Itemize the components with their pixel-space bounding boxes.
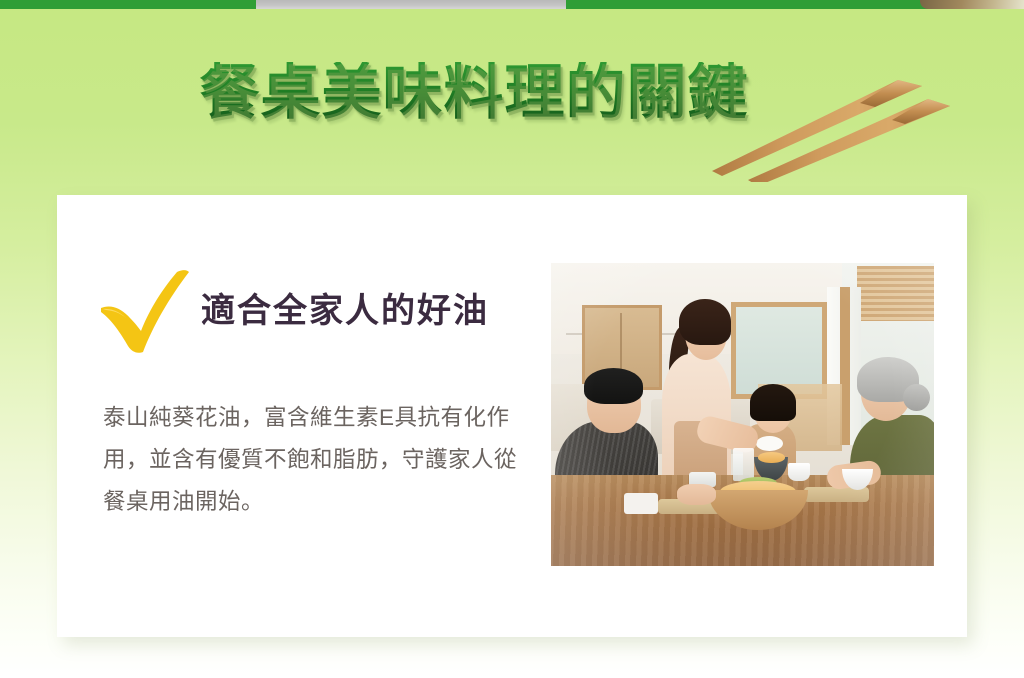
top-strip-gray [256, 0, 566, 9]
body-line: 用，並含有優質不飽和脂肪，守護家人從 [103, 439, 555, 481]
card-left-column: 適合全家人的好油 泰山純葵花油，富含維生素E具抗有化作 用，並含有優質不飽和脂肪… [97, 265, 567, 523]
card-body-text: 泰山純葵花油，富含維生素E具抗有化作 用，並含有優質不飽和脂肪，守護家人從 餐桌… [103, 397, 555, 523]
content-card: 適合全家人的好油 泰山純葵花油，富含維生素E具抗有化作 用，並含有優質不飽和脂肪… [57, 195, 967, 637]
top-strip-wood-accent [920, 0, 1024, 9]
top-strip-green-left [0, 0, 256, 9]
headline-row: 適合全家人的好油 [97, 265, 567, 357]
body-line: 餐桌用油開始。 [103, 481, 555, 523]
photo-vignette [551, 263, 934, 566]
check-icon [97, 268, 193, 354]
top-strip [0, 0, 1024, 9]
card-headline: 適合全家人的好油 [201, 294, 489, 328]
body-line: 泰山純葵花油，富含維生素E具抗有化作 [103, 397, 555, 439]
chopsticks-svg [660, 72, 960, 182]
check-icon-svg [97, 268, 193, 354]
promo-page: 餐桌美味料理的關鍵 [0, 0, 1024, 678]
chopsticks-icon [660, 72, 960, 182]
family-dining-photo [551, 263, 934, 566]
